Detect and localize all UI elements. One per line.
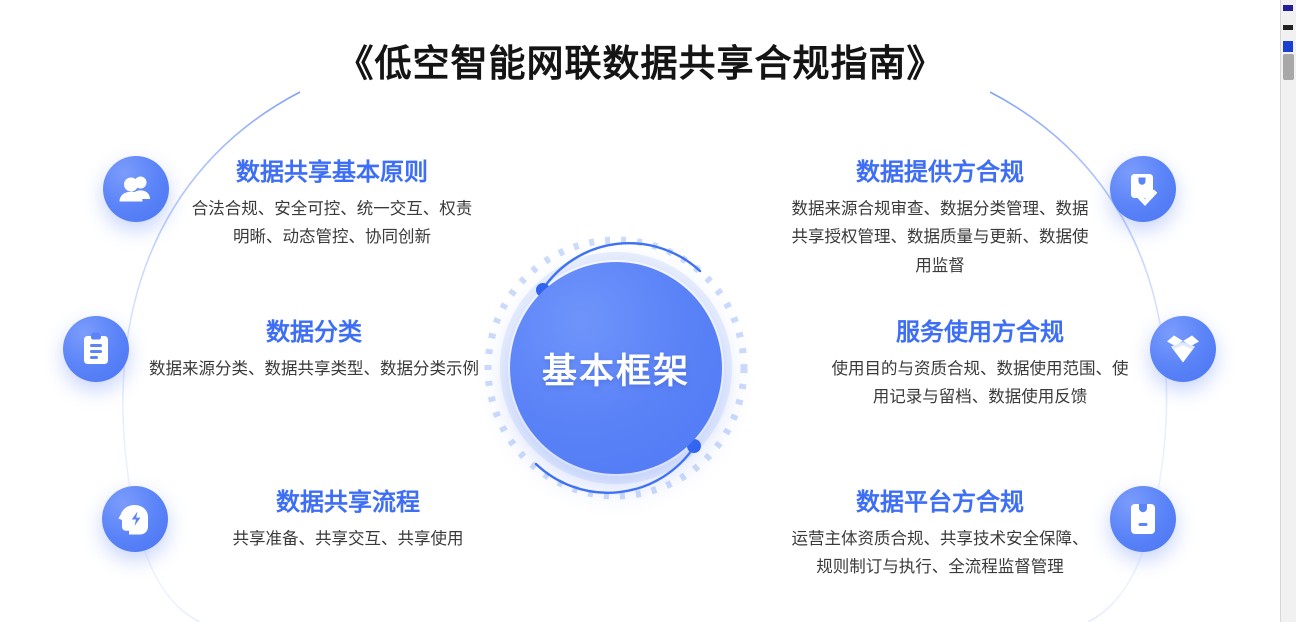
node-data-sharing-principles[interactable]: 数据共享基本原则 合法合规、安全可控、统一交互、权责明晰、动态管控、协同创新 (103, 156, 503, 252)
node-service-consumer-compliance[interactable]: 服务使用方合规 使用目的与资质合规、数据使用范围、使用记录与留档、数据使用反馈 (796, 316, 1216, 412)
node-text: 数据平台方合规 运营主体资质合规、共享技术安全保障、规则制订与执行、全流程监督管… (790, 486, 1090, 582)
node-title: 数据提供方合规 (790, 158, 1090, 188)
node-data-sharing-process[interactable]: 数据共享流程 共享准备、共享交互、共享使用 (102, 486, 522, 553)
users-icon (103, 156, 169, 222)
platform-clipboard-icon (1110, 486, 1176, 552)
screenshot-root: 《低空智能网联数据共享合规指南》 基本框架 数据共享基本原则 合法合规、安全可控… (0, 0, 1296, 622)
node-title: 服务使用方合规 (830, 318, 1130, 348)
brain-bolt-icon (102, 486, 168, 552)
open-box-icon (1150, 316, 1216, 382)
node-body: 数据来源合规审查、数据分类管理、数据共享授权管理、数据质量与更新、数据使用监督 (790, 195, 1090, 280)
node-data-provider-compliance[interactable]: 数据提供方合规 数据来源合规审查、数据分类管理、数据共享授权管理、数据质量与更新… (776, 156, 1176, 280)
node-text: 服务使用方合规 使用目的与资质合规、数据使用范围、使用记录与留档、数据使用反馈 (830, 316, 1130, 412)
center-framework-node: 基本框架 (484, 236, 748, 500)
center-label: 基本框架 (542, 343, 690, 394)
node-data-classification[interactable]: 数据分类 数据来源分类、数据共享类型、数据分类示例 (63, 316, 493, 383)
scrollbar-thumb[interactable] (1283, 54, 1294, 80)
scrollbar-marker-mid (1283, 25, 1293, 30)
scrollbar-marker-low (1283, 41, 1293, 52)
infographic-canvas: 《低空智能网联数据共享合规指南》 基本框架 数据共享基本原则 合法合规、安全可控… (0, 0, 1281, 622)
node-title: 数据共享流程 (188, 488, 508, 518)
node-text: 数据共享基本原则 合法合规、安全可控、统一交互、权责明晰、动态管控、协同创新 (189, 156, 475, 252)
node-text: 数据分类 数据来源分类、数据共享类型、数据分类示例 (149, 316, 479, 383)
scrollbar-marker-top (1283, 5, 1293, 11)
node-data-platform-compliance[interactable]: 数据平台方合规 运营主体资质合规、共享技术安全保障、规则制订与执行、全流程监督管… (766, 486, 1176, 582)
vertical-scrollbar[interactable] (1280, 0, 1296, 622)
node-title: 数据分类 (149, 318, 479, 348)
clipboard-icon (63, 316, 129, 382)
node-body: 使用目的与资质合规、数据使用范围、使用记录与留档、数据使用反馈 (830, 355, 1130, 412)
node-title: 数据共享基本原则 (189, 158, 475, 188)
node-text: 数据提供方合规 数据来源合规审查、数据分类管理、数据共享授权管理、数据质量与更新… (790, 156, 1090, 280)
node-body: 数据来源分类、数据共享类型、数据分类示例 (149, 355, 479, 383)
node-text: 数据共享流程 共享准备、共享交互、共享使用 (188, 486, 508, 553)
page-title: 《低空智能网联数据共享合规指南》 (0, 33, 1281, 87)
document-check-icon (1110, 156, 1176, 222)
node-body: 共享准备、共享交互、共享使用 (188, 525, 508, 553)
center-circle: 基本框架 (510, 262, 722, 474)
node-body: 合法合规、安全可控、统一交互、权责明晰、动态管控、协同创新 (189, 195, 475, 252)
node-title: 数据平台方合规 (790, 488, 1090, 518)
node-body: 运营主体资质合规、共享技术安全保障、规则制订与执行、全流程监督管理 (790, 525, 1090, 582)
